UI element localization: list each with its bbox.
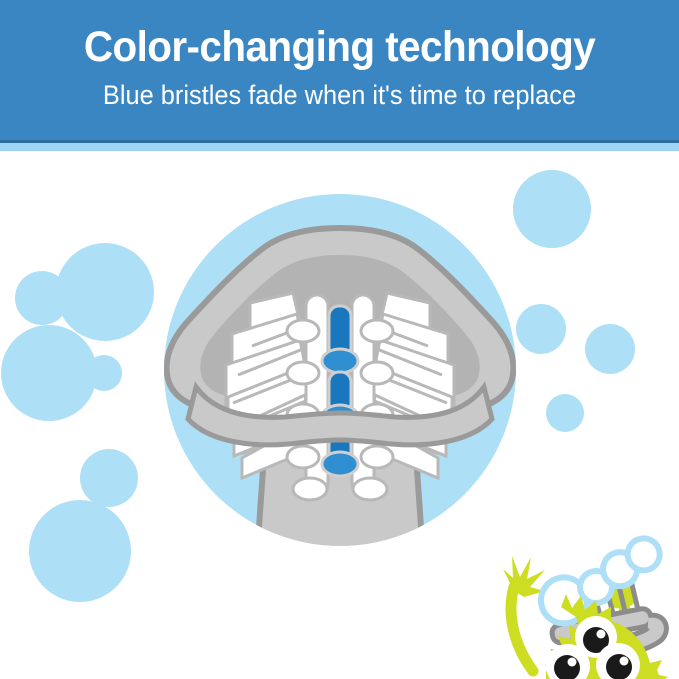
indicator-ellipse (322, 452, 358, 476)
bubble-icon (513, 170, 591, 248)
bristle-oval (293, 478, 327, 500)
monster-eye-glint (620, 657, 629, 666)
bristle-oval (287, 362, 319, 384)
bristle-oval (361, 320, 393, 342)
banner-divider-light (0, 143, 679, 151)
background-bubbles-left (1, 243, 154, 602)
header-banner: Color-changing technology Blue bristles … (0, 0, 679, 140)
bubble-icon (15, 271, 69, 325)
monster-pupil (606, 654, 632, 679)
bubble-icon (80, 449, 138, 507)
bubble-icon (546, 394, 584, 432)
bubble-icon (56, 243, 154, 341)
bubble-icon (516, 304, 566, 354)
illustration-area (0, 151, 679, 679)
bristle-oval (361, 362, 393, 384)
bubble-icon (585, 324, 635, 374)
bubble-icon (625, 536, 663, 574)
monster-eye-glint (568, 658, 577, 667)
bubble-icon (1, 325, 97, 421)
bristle-oval (361, 446, 393, 468)
bubble-icon (86, 355, 122, 391)
monster-left-arm (503, 556, 545, 671)
indicator-ellipse (322, 349, 358, 373)
page-title: Color-changing technology (20, 22, 658, 72)
monster-eye-glint (597, 630, 606, 639)
green-monster-mascot (503, 536, 678, 679)
bristle-oval (353, 478, 387, 500)
page-subtitle: Blue bristles fade when it's time to rep… (20, 79, 658, 111)
poster-root: Color-changing technology Blue bristles … (0, 0, 679, 679)
bristle-oval (287, 446, 319, 468)
bubble-icon (29, 500, 131, 602)
bristle-oval (287, 320, 319, 342)
background-bubbles-right (513, 170, 635, 432)
